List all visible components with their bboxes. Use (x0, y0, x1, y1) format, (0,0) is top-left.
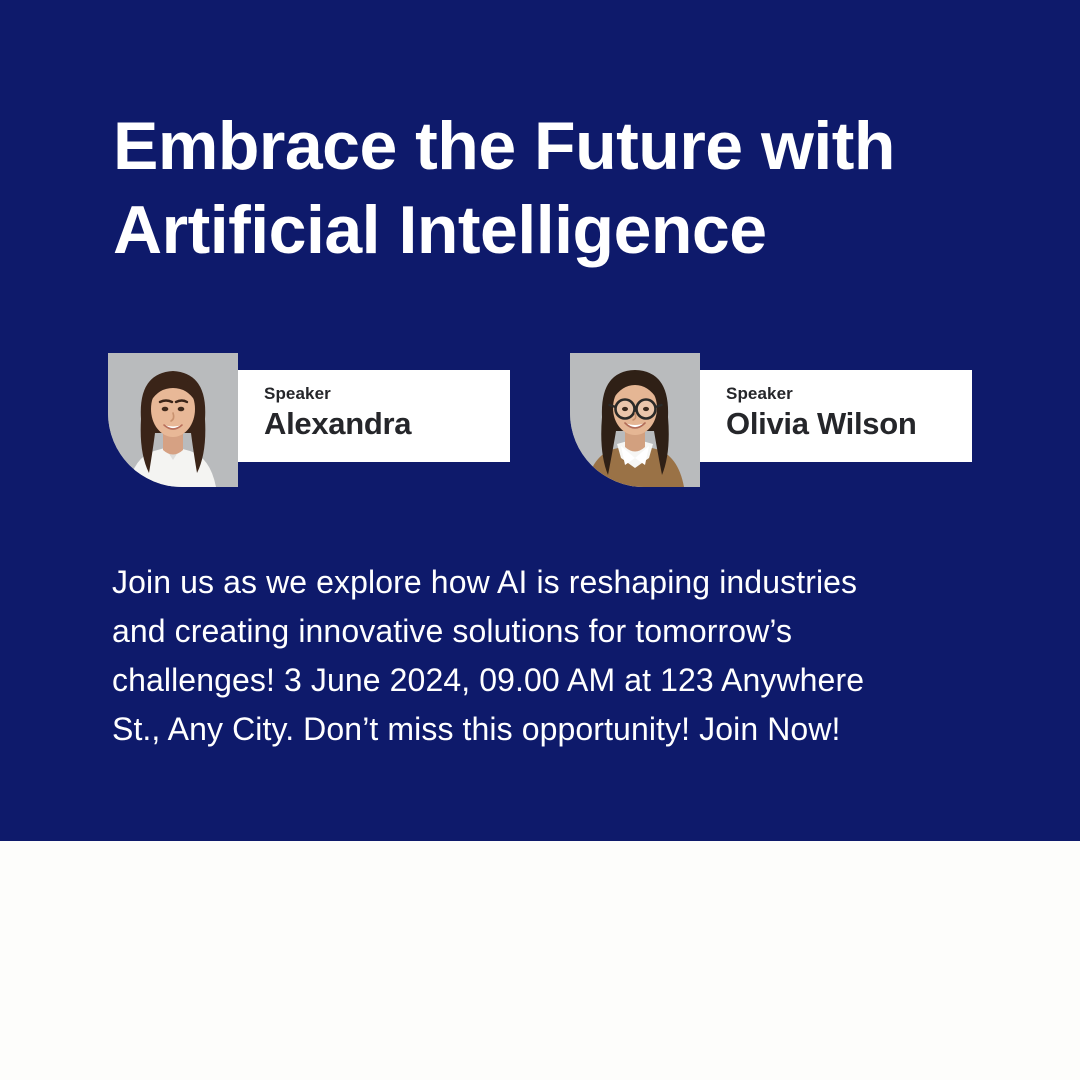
event-description-line-1: Join us as we explore how AI is reshapin… (112, 558, 974, 607)
speaker-name: Alexandra (264, 404, 510, 444)
page-title-line-1: Embrace the Future with (113, 104, 1013, 188)
speaker-role-label: Speaker (264, 384, 510, 404)
speaker-nameplate: Speaker Alexandra (238, 370, 510, 462)
speaker-nameplate: Speaker Olivia Wilson (700, 370, 972, 462)
event-description-line-4: St., Any City. Don’t miss this opportuni… (112, 705, 974, 754)
speaker-avatar (108, 353, 238, 487)
footer-bar: Capcut Free Registration! Follow our soc… (0, 841, 1080, 1080)
event-description: Join us as we explore how AI is reshapin… (112, 558, 974, 754)
speaker-avatar (570, 353, 700, 487)
poster-canvas: Embrace the Future with Artificial Intel… (0, 0, 1080, 1080)
page-title-line-2: Artificial Intelligence (113, 188, 1013, 272)
event-description-line-2: and creating innovative solutions for to… (112, 607, 974, 656)
page-title: Embrace the Future with Artificial Intel… (113, 104, 1013, 272)
speaker-role-label: Speaker (726, 384, 972, 404)
event-description-line-3: challenges! 3 June 2024, 09.00 AM at 123… (112, 656, 974, 705)
speaker-name: Olivia Wilson (726, 404, 972, 444)
